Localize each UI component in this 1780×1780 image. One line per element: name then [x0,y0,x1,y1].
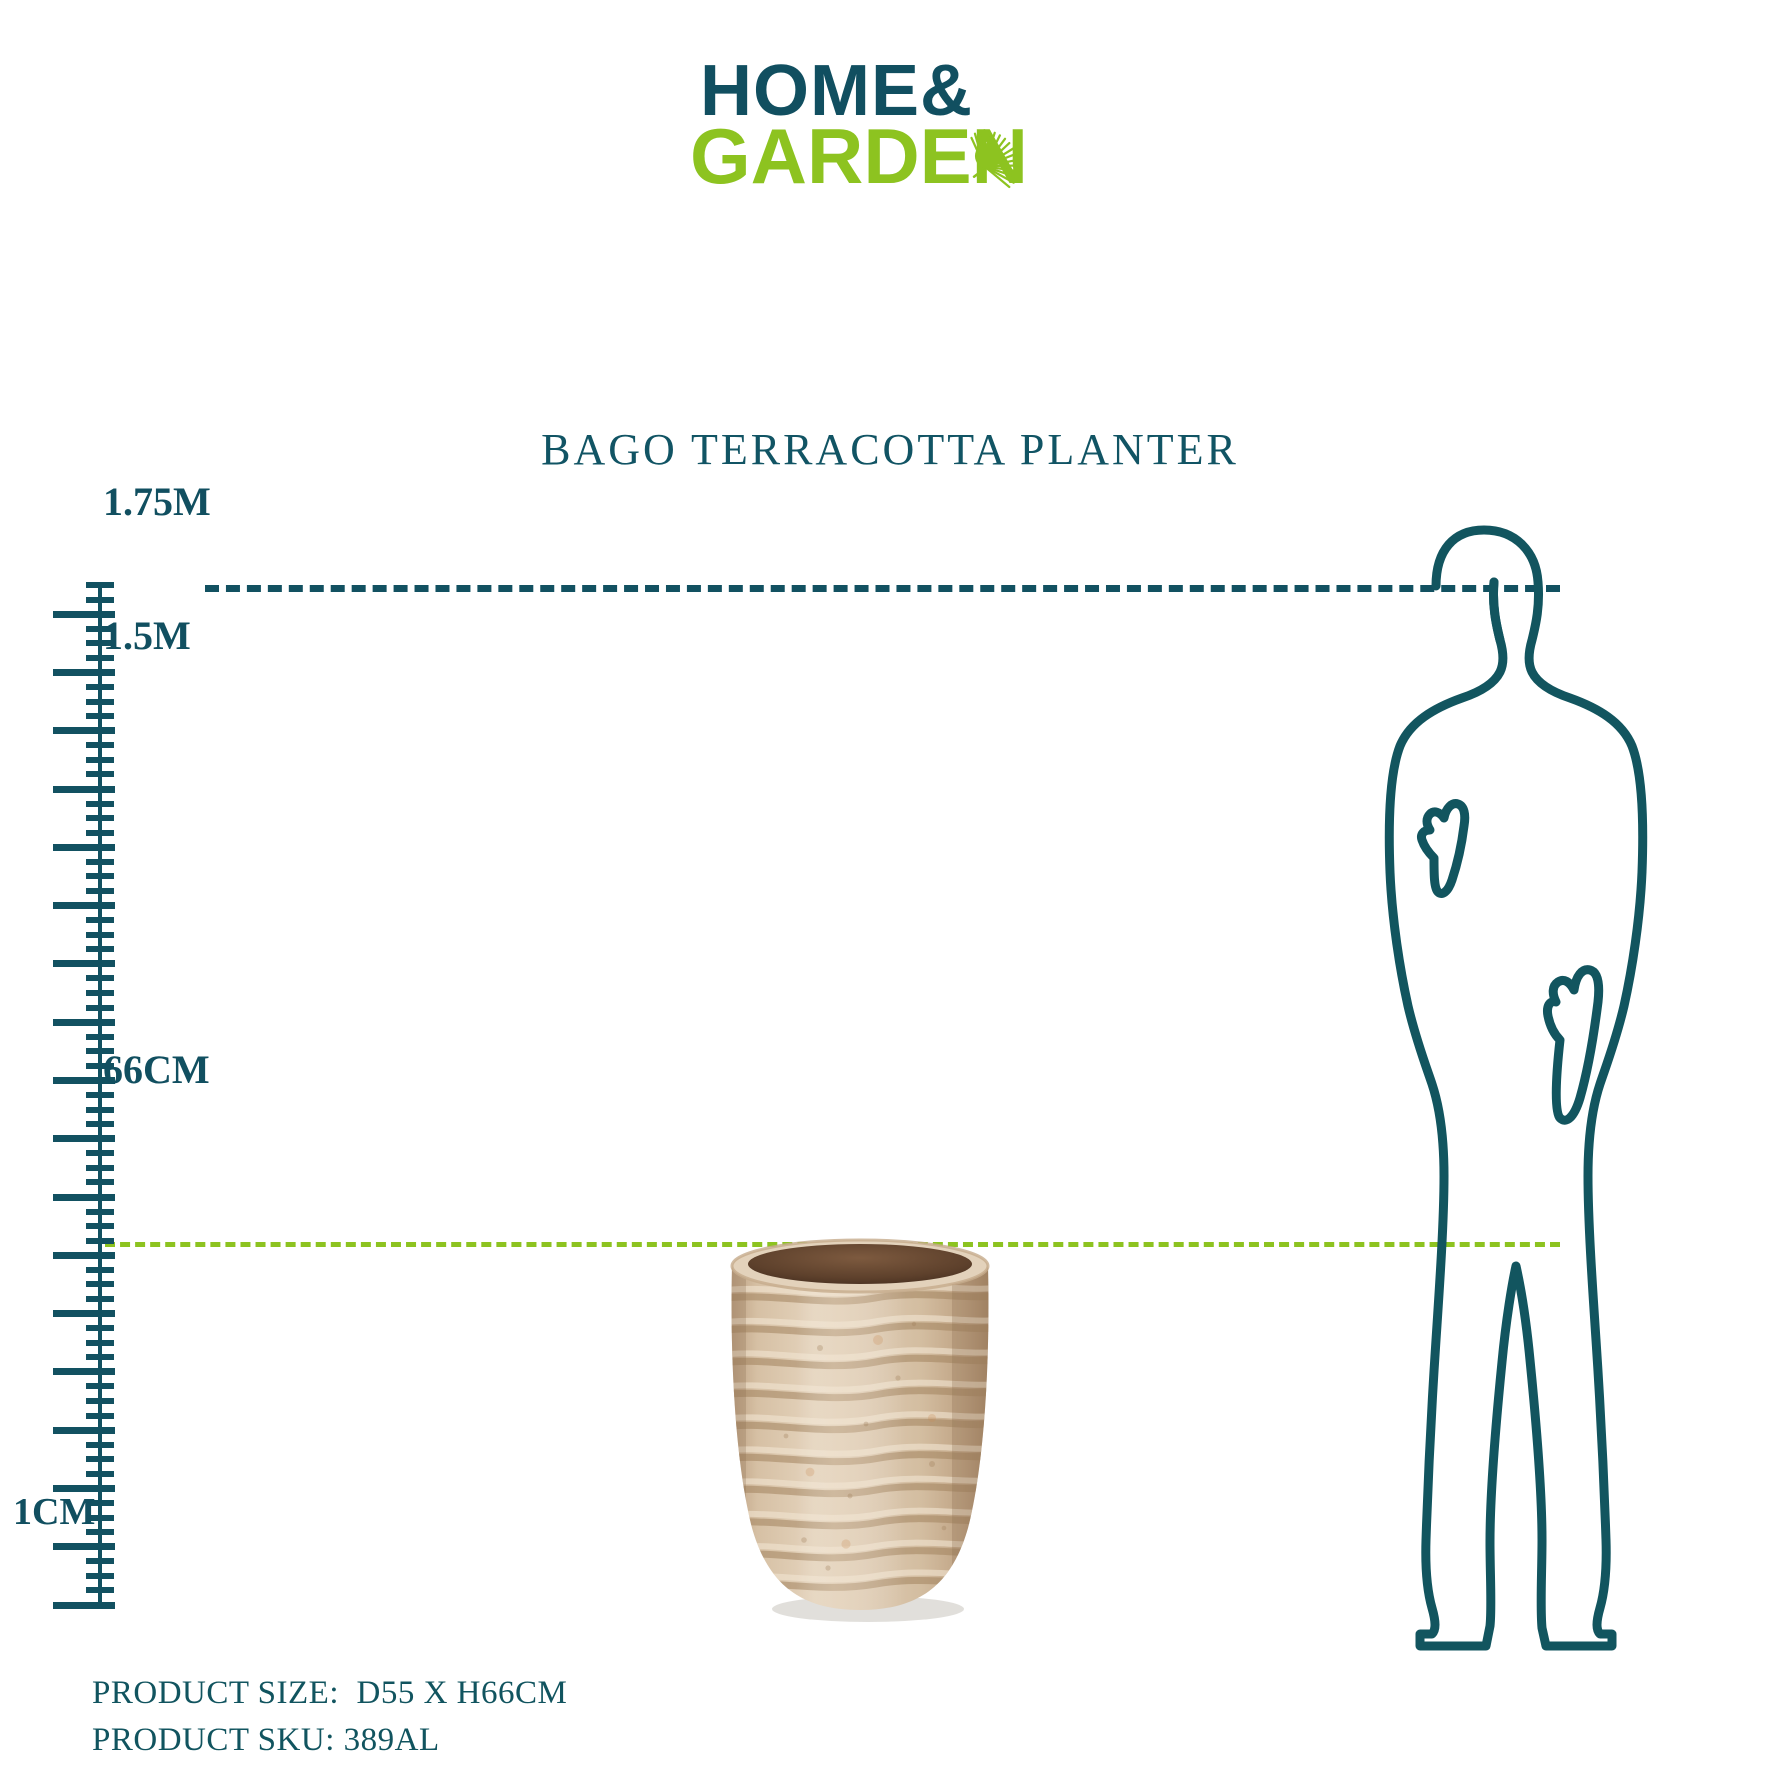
measurement-ruler: 1.75M 1.5M 66CM 1CM [55,500,305,1620]
ruler-tick-minor [86,932,114,938]
ruler-tick-minor [86,1121,114,1127]
ruler-tick-minor [86,990,114,996]
ruler-tick-major [53,1310,115,1317]
ruler-tick-major [53,1019,115,1026]
ruler-tick-minor [86,582,114,588]
ruler-tick-minor [86,1267,114,1273]
ruler-tick-minor [86,1558,114,1564]
ruler-tick-minor [86,873,114,879]
product-details: PRODUCT SIZE: D55 X H66CM PRODUCT SKU: 3… [92,1670,567,1764]
ruler-tick-major [53,1252,115,1259]
ruler-tick-minor [86,713,114,719]
ruler-tick-minor [86,1296,114,1302]
ruler-tick-major [53,960,115,967]
ruler-tick-minor [86,1354,114,1360]
ruler-tick-major [53,1135,115,1142]
brand-logo: HOME& GARDEN [700,55,1120,215]
ruler-tick-minor [86,1413,114,1419]
product-scale-diagram: HOME& GARDEN [0,0,1780,1780]
ruler-tick-major [53,1427,115,1434]
product-image-planter [700,1228,1020,1628]
ruler-tick-minor [86,742,114,748]
ruler-tick-minor [86,815,114,821]
product-size-text: PRODUCT SIZE: D55 X H66CM [92,1670,567,1717]
ruler-label-175m: 1.75M [103,478,211,525]
ruler-tick-minor [86,1456,114,1462]
ruler-tick-major [53,844,115,851]
ruler-label-15m: 1.5M [103,612,191,659]
ruler-tick-minor [86,917,114,923]
planter-illustration [700,1228,1020,1628]
ruler-tick-minor [86,757,114,763]
ruler-tick-minor [86,1238,114,1244]
ruler-tick-minor [86,771,114,777]
ruler-tick-minor [86,1383,114,1389]
ruler-tick-major [53,1368,115,1375]
ruler-tick-major [53,786,115,793]
ruler-tick-minor [86,975,114,981]
ruler-tick-minor [86,1281,114,1287]
ruler-tick-minor [86,946,114,952]
ruler-tick-minor [86,1587,114,1593]
ruler-tick-minor [86,684,114,690]
ruler-label-1cm: 1CM [13,1490,95,1534]
ruler-tick-minor [86,597,114,603]
ruler-tick-minor [86,1034,114,1040]
ruler-tick-minor [86,830,114,836]
ruler-tick-major [53,902,115,909]
ruler-tick-major [53,669,115,676]
palm-fan-icon [950,113,1036,199]
ruler-tick-minor [86,1573,114,1579]
ruler-tick-major [53,727,115,734]
ruler-tick-major [53,1602,115,1609]
ruler-tick-minor [86,1179,114,1185]
ruler-tick-minor [86,801,114,807]
ruler-tick-minor [86,1209,114,1215]
ruler-tick-minor [86,1442,114,1448]
ruler-label-66cm: 66CM [103,1046,210,1093]
ruler-tick-minor [86,1005,114,1011]
ruler-tick-minor [86,1223,114,1229]
ruler-tick-minor [86,1325,114,1331]
product-sku-text: PRODUCT SKU: 389AL [92,1717,567,1764]
ruler-tick-minor [86,888,114,894]
ruler-tick-minor [86,699,114,705]
ruler-tick-major [53,1543,115,1550]
ruler-tick-minor [86,1398,114,1404]
ruler-tick-minor [86,1340,114,1346]
person-outline-icon [1240,500,1660,1660]
ruler-tick-minor [86,1150,114,1156]
page-title: BAGO TERRACOTTA PLANTER [0,424,1780,475]
ruler-tick-minor [86,1165,114,1171]
ruler-tick-major [53,1194,115,1201]
ruler-tick-minor [86,1471,114,1477]
ruler-tick-minor [86,859,114,865]
human-silhouette [1240,500,1660,1660]
ruler-tick-minor [86,1107,114,1113]
